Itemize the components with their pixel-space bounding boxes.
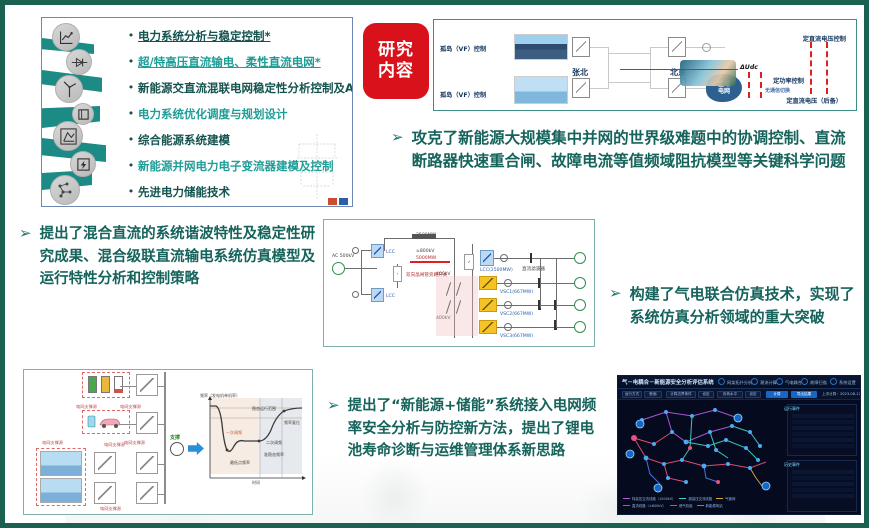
bullet-dot: • [124, 102, 138, 126]
legend-swatch [716, 498, 723, 500]
battery-yellow [101, 376, 110, 393]
ac-system-source [574, 277, 586, 289]
network-topology-map [620, 402, 780, 494]
filter-set-2[interactable]: 设定 [745, 391, 761, 398]
export-results-button[interactable]: 导出结果 [791, 391, 817, 398]
delta-udc-label: ΔUdc [740, 64, 758, 71]
dashboard-legend: 特高压交流线路（1000kV） 超高压交流线路 气管网 直流线路（±800kV）… [623, 496, 753, 510]
table-row[interactable] [792, 438, 854, 442]
chart-ylabel: 频率（发电机单机率） [200, 393, 240, 399]
ac-line [497, 283, 575, 284]
lcc-converter-1 [371, 244, 384, 258]
bullet-dot: • [124, 180, 138, 204]
converter-block [136, 412, 158, 434]
island-control-label-bottom: 孤岛（VF）控制 [440, 90, 486, 99]
arrow-bullet-icon: ➢ [19, 223, 32, 243]
nav-label: 系统设置 [839, 380, 856, 385]
arrow-stub [717, 47, 725, 48]
filter-section-select[interactable]: 断面 [644, 391, 662, 398]
topology-icon [718, 378, 725, 385]
legend-label: 超高压交流线路 [688, 496, 712, 501]
runtime-events-title: 运行事件 [784, 406, 800, 412]
oil-pump-icon [53, 121, 83, 151]
calculate-button[interactable]: 计算 [766, 391, 788, 398]
badge-line1: 研究 [378, 40, 414, 61]
circuit-label-lcc2: LCC [386, 294, 395, 299]
achievement-text-3: ➢ 构建了气电联合仿真技术，实现了系统仿真分析领域的重大突破 [609, 283, 859, 329]
history-events-title: 历史事件 [784, 462, 800, 468]
gear-icon [830, 378, 837, 385]
vsc-converter-2 [479, 298, 497, 312]
legend-swatch [679, 498, 686, 500]
converter-tr [668, 37, 686, 57]
circuit-label-vsc3: VSC3(667MW) [500, 334, 533, 339]
dc-line [650, 47, 668, 48]
ac-source [332, 262, 345, 275]
topic-label: 先进电力储能技术 [138, 180, 230, 204]
legend-item: 气管网 [716, 496, 735, 501]
ev-charging-illustration [86, 414, 126, 430]
battery-green [88, 376, 97, 393]
gas-icon [776, 378, 783, 385]
bullet-dot: • [124, 24, 138, 48]
circuit-board-icon [50, 175, 80, 205]
legend-swatch [623, 505, 630, 507]
converter-block [94, 452, 116, 474]
lcc-converter-2 [371, 288, 384, 302]
support-label: 电网支撑源 [100, 506, 121, 512]
legend-swatch [670, 505, 677, 507]
hvdc-topology-diagram: 孤岛（VF）控制 孤岛（VF）控制 张北 北京 区域电网 ΔUdc 定直流电压控… [433, 19, 857, 111]
tie-line [540, 258, 541, 308]
topic-label: 电力系统优化调度与规划设计 [138, 102, 288, 126]
control-label-power: 定功率控制 [773, 76, 804, 85]
circuit-label-ac-filter: 直流滤波器 [522, 266, 545, 272]
dc-line [608, 82, 650, 83]
tie-wire [158, 386, 164, 387]
table-row[interactable] [792, 488, 854, 492]
dc-bus [384, 238, 385, 251]
hybrid-hvdc-circuit-diagram: AC 500kV 2500MW ±800kV 5000MW 400kV 400k… [323, 219, 595, 347]
network-schematic-watermark [286, 132, 348, 202]
legend-label: 直流线路（±800kV） [632, 503, 666, 508]
lcc-converter-right [480, 250, 494, 266]
circuit-label-ac500: AC 500kV [332, 254, 354, 259]
circuit-label-vsc1: VSC1(667MW) [500, 290, 533, 295]
topic-label: 超/特高压直流输电、柔性直流电网* [138, 50, 321, 74]
research-topics-box: •电力系统分析与稳定控制* •超/特高压直流输电、柔性直流电网* •新能源交直流… [41, 17, 353, 207]
red-dashed-arrow-down [810, 42, 812, 94]
dashboard-nav-gascoupling[interactable]: 气电耦合 [776, 378, 802, 386]
battery-red [114, 376, 123, 393]
filter-set-1[interactable]: 设定 [698, 391, 714, 398]
table-row[interactable] [792, 470, 854, 474]
legend-label: 燃气机组 [679, 503, 693, 508]
wind-farm-photo [514, 76, 568, 104]
ac-line [497, 305, 575, 306]
circuit-label-lcc1: LCC [386, 250, 395, 255]
station-label-zhangbei: 张北 [572, 67, 588, 78]
arrow-bullet-icon: ➢ [609, 283, 622, 303]
dashboard-nav-faultscan[interactable]: 故障扫描 [801, 378, 827, 386]
dc-line [608, 53, 650, 54]
flag-icon-blue [339, 198, 348, 205]
wind-photo-1 [40, 451, 82, 476]
bus-line [361, 250, 362, 294]
bullet-dot: • [124, 128, 138, 152]
bullet-dot: • [124, 154, 138, 178]
fault-icon [801, 378, 808, 385]
converter-bl [572, 78, 590, 98]
island-control-label-top: 孤岛（VF）控制 [440, 44, 486, 53]
transformer-coil [352, 291, 359, 298]
line-chart-icon [52, 23, 80, 51]
solar-panel-icon [72, 103, 94, 125]
grid-equivalent-source [170, 442, 184, 456]
achievement-text-4: ➢ 提出了“新能源+储能”系统接入电网频率安全分析与防控新方法，提出了锂电池寿命… [327, 395, 607, 463]
tie-wire [120, 424, 136, 425]
dashboard-title: 气－电耦合－新能源安全分析评估系统 [622, 378, 714, 386]
dc-filter [393, 266, 402, 282]
topic-label: 综合能源系统建模 [138, 128, 230, 152]
dc-line [650, 47, 651, 89]
filter-load-level-label: 负荷水平 [717, 391, 743, 398]
bus-support-label: 支撑 [170, 434, 180, 441]
circuit-label-vsc2: VSC2(667MW) [500, 312, 533, 317]
red-pointer-line [620, 69, 738, 70]
chart-annot-nadir: 最低点频率 [230, 460, 250, 466]
tie-wire [158, 494, 164, 495]
table-row[interactable] [792, 482, 854, 486]
table-row[interactable] [792, 432, 854, 436]
chart-xlabel: 时间 [252, 480, 260, 486]
legend-swatch [623, 498, 630, 500]
achievement-text-2: ➢ 提出了混合直流的系统谐波特性及稳定性研究成果、混合级联直流输电系统仿真模型及… [19, 223, 325, 291]
filter-boundary-label: 计算边界条件 [666, 391, 696, 398]
solar-farm-photo [514, 34, 568, 60]
reactor [530, 253, 532, 263]
dashboard-nav-powerflow[interactable]: 潮流计算 [751, 378, 777, 386]
legend-item: 燃气机组 [670, 503, 693, 508]
red-flow-arrow [410, 261, 450, 263]
achievement-text-1-body: 攻克了新能源大规模集中并网的世界级难题中的协调控制、直流断路器快速重合闸、故障电… [412, 127, 861, 173]
wind-photo-2 [40, 478, 82, 503]
topic-label: 新能源交直流混联电网稳定性分析控制及AI应用 [138, 76, 353, 100]
chart-annot-secondary-regulation: 二次调频 [266, 440, 282, 446]
measurement-circle [702, 43, 711, 52]
table-row[interactable] [792, 426, 854, 430]
converter-tl [572, 37, 590, 57]
last-calc-timestamp: 上次计算：2023-08-12 10:25:41 [822, 391, 860, 398]
tie-wire [158, 424, 164, 425]
bullet-dot: • [124, 50, 138, 74]
legend-label: 气管网 [725, 496, 735, 501]
badge-line2: 内容 [378, 61, 414, 82]
arrow-bullet-icon: ➢ [391, 127, 404, 147]
converter-block [136, 374, 158, 396]
legend-label: 特高压交流线路（1000kV） [632, 496, 675, 501]
legend-item: 新能源场站 [697, 503, 723, 508]
control-label-dc-voltage-backup: 定直流电压（后备） [786, 96, 842, 105]
gas-power-coupling-dashboard: 气－电耦合－新能源安全分析评估系统 网架拓扑分析 潮流计算 气电耦合 故障扫描 … [617, 375, 861, 515]
circuit-label-lcc-2500: LCC(2500MW) [480, 268, 513, 273]
ac-system-source [574, 252, 586, 264]
converter-block [136, 482, 158, 504]
slide-root: •电力系统分析与稳定控制* •超/特高压直流输电、柔性直流电网* •新能源交直流… [0, 0, 869, 528]
vsc-converter-1 [479, 276, 497, 290]
converter-block [136, 452, 158, 474]
bullet-dot: • [124, 76, 138, 100]
table-row[interactable] [792, 444, 854, 448]
table-row[interactable] [792, 414, 854, 418]
nav-label: 网架拓扑分析 [727, 380, 752, 385]
dc-line [686, 88, 708, 89]
legend-item: 超高压交流线路 [679, 496, 712, 501]
achievement-text-2-body: 提出了混合直流的系统谐波特性及稳定性研究成果、混合级联直流输电系统仿真模型及运行… [40, 223, 325, 291]
mini-flag-icons [328, 198, 348, 205]
tie-wire [120, 386, 136, 387]
support-label: 电网支撑源 [104, 442, 125, 448]
achievement-text-4-body: 提出了“新能源+储能”系统接入电网频率安全分析与防控新方法，提出了锂电池寿命诊断… [348, 395, 607, 463]
wind-turbine-icon [55, 75, 83, 103]
chart-annot-restore: 频率复位 [284, 420, 300, 426]
red-dashed-arrow-left-down [760, 72, 762, 98]
transformer-coil [352, 247, 359, 254]
dashboard-nav-topology[interactable]: 网架拓扑分析 [718, 378, 752, 386]
tie-line [556, 258, 557, 328]
nav-label: 气电耦合 [785, 380, 802, 385]
flag-icon-orange [328, 198, 337, 205]
tie-wire [158, 464, 164, 465]
legend-item: 直流线路（±800kV） [623, 503, 666, 508]
list-item[interactable]: •超/特高压直流输电、柔性直流电网* [124, 50, 348, 74]
powerflow-icon [751, 378, 758, 385]
converter-block [94, 482, 116, 504]
legend-label: 新能源场站 [706, 503, 723, 508]
smoothing-reactor [412, 234, 436, 239]
ac-system-source [574, 299, 586, 311]
chart-annot-quasi-steady: 准稳态频率 [264, 452, 284, 458]
filter-run-mode-label: 运行方式 [622, 391, 642, 398]
achievement-text-1: ➢ 攻克了新能源大规模集中并网的世界级难题中的协调控制、直流断路器快速重合闸、故… [391, 127, 861, 173]
list-item[interactable]: •电力系统分析与稳定控制* [124, 24, 348, 48]
chart-annot-primary-regulation: 一次调频 [226, 430, 242, 436]
table-row[interactable] [792, 420, 854, 424]
grid-support-system-diagram: 电网支撑源 电网支撑源 电网支撑源 电网支撑源 电网支撑源 电网支撑源 [23, 369, 313, 515]
valve-block [464, 254, 474, 270]
arrow-bullet-icon: ➢ [327, 395, 340, 415]
legend-item: 特高压交流线路（1000kV） [623, 496, 675, 501]
transformer-icon [70, 151, 96, 177]
topic-icon-column [50, 23, 122, 205]
achievement-text-3-body: 构建了气电联合仿真技术，实现了系统仿真分析领域的重大突破 [630, 283, 859, 329]
chart-annot-steady-range: 稳态运行范围 [252, 406, 276, 412]
dc-line [590, 88, 608, 89]
vsc-converter-3 [479, 320, 497, 334]
dc-line [590, 47, 608, 48]
control-label-no-comm-switch: 无通信切换 [765, 87, 790, 94]
ac-system-source [574, 321, 586, 333]
ac-line [494, 258, 574, 259]
red-dashed-arrow-up [826, 42, 828, 94]
research-content-badge: 研究 内容 [363, 23, 429, 99]
circuit-label-800kv: ±800kV [416, 249, 434, 254]
dc-line [650, 88, 668, 89]
topic-label: 电力系统分析与稳定控制* [138, 24, 271, 48]
list-item[interactable]: •电力系统优化调度与规划设计 [124, 102, 348, 126]
support-label: 电网支撑源 [42, 440, 63, 446]
legend-swatch [697, 505, 704, 507]
ac-line [497, 327, 575, 328]
table-row[interactable] [792, 476, 854, 480]
ac-bus-bar [164, 372, 166, 504]
dashboard-nav-settings[interactable]: 系统设置 [830, 378, 856, 386]
diode-icon [66, 49, 92, 75]
frequency-response-chart: 频率（发电机单机率） 稳态运行范围 一次调频 二次调频 最低点频率 准稳态频率 … [196, 394, 308, 492]
nav-label: 潮流计算 [760, 380, 777, 385]
red-dashed-arrow-left-up [748, 72, 750, 98]
list-item[interactable]: •新能源交直流混联电网稳定性分析控制及AI应用 [124, 76, 348, 100]
table-row[interactable] [792, 494, 854, 498]
support-label: 电网支撑源 [124, 440, 145, 446]
hand-photo-overlay [680, 60, 736, 86]
nav-label: 故障扫描 [810, 380, 827, 385]
